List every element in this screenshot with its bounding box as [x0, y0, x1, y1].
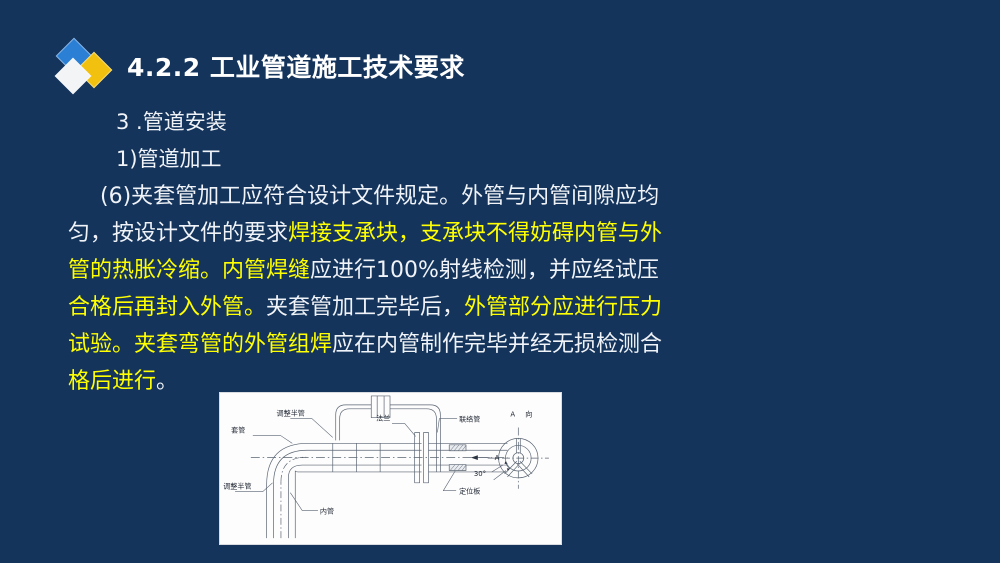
highlighted-text-run: 试验。夹套弯管的外管组焊	[68, 332, 332, 357]
figure-label-adjust-half-pipe-top: 调整半管	[277, 409, 305, 418]
slide-title-row: 4.2.2 工业管道施工技术要求	[55, 38, 465, 94]
highlighted-text-run: 外管部分应进行压力	[464, 295, 662, 320]
jacketed-pipe-figure: 调整半管 套管 法兰 联络管 定位板 调整半管 内管 A A 向 30°	[219, 392, 562, 545]
jacketed-pipe-svg: 调整半管 套管 法兰 联络管 定位板 调整半管 内管 A A 向 30°	[220, 393, 561, 544]
figure-label-inner-pipe: 内管	[320, 506, 334, 515]
body-paragraph: (6)夹套管加工应符合设计文件规定。外管与内管间隙应均匀，按设计文件的要求焊接支…	[38, 178, 738, 400]
highlighted-text-run: 格后进行	[68, 369, 156, 394]
figure-label-positioning-plate: 定位板	[459, 487, 480, 496]
figure-label-angle: 30°	[474, 470, 486, 478]
plain-text-run: 应进行100%射线检测，并应经试压	[310, 258, 659, 283]
figure-label-view-word: 向	[525, 410, 532, 419]
plain-text-run: 应在内管制作完毕并经无损检测合	[332, 332, 662, 357]
body-heading-2: 1)管道加工	[38, 141, 738, 178]
slide-canvas: 4.2.2 工业管道施工技术要求 3 .管道安装 1)管道加工 (6)夹套管加工…	[0, 0, 1000, 563]
three-diamond-logo-icon	[55, 38, 117, 94]
figure-label-connecting-pipe: 联络管	[459, 415, 480, 424]
figure-label-adjust-half-pipe-bottom: 调整半管	[223, 482, 251, 491]
body-paragraph-line: 管的热胀冷缩。内管焊缝应进行100%射线检测，并应经试压	[38, 252, 738, 289]
body-paragraph-line: 试验。夹套弯管的外管组焊应在内管制作完毕并经无损检测合	[38, 326, 738, 363]
plain-text-run: (6)夹套管加工应符合设计文件规定。外管与内管间隙应均	[100, 184, 659, 209]
body-paragraph-line: (6)夹套管加工应符合设计文件规定。外管与内管间隙应均	[38, 178, 738, 215]
figure-label-view-letter: A	[510, 411, 515, 419]
highlighted-text-run: 管的热胀冷缩。内管焊缝	[68, 258, 310, 283]
plain-text-run: 匀，按设计文件的要求	[68, 221, 288, 246]
figure-label-flange: 法兰	[376, 414, 390, 423]
plain-text-run: 。	[156, 369, 178, 394]
figure-label-sleeve: 套管	[231, 425, 245, 434]
body-paragraph-line: 匀，按设计文件的要求焊接支承块，支承块不得妨碍内管与外	[38, 215, 738, 252]
body-paragraph-line: 合格后再封入外管。夹套管加工完毕后，外管部分应进行压力	[38, 289, 738, 326]
highlighted-text-run: 合格后再封入外管。	[68, 295, 266, 320]
figure-label-view-arrow: A	[495, 454, 500, 462]
body-heading-1: 3 .管道安装	[38, 104, 738, 141]
highlighted-text-run: 焊接支承块，支承块不得妨碍内管与外	[288, 221, 662, 246]
plain-text-run: 夹套管加工完毕后，	[266, 295, 464, 320]
page-title: 4.2.2 工业管道施工技术要求	[127, 48, 465, 84]
body-text-block: 3 .管道安装 1)管道加工 (6)夹套管加工应符合设计文件规定。外管与内管间隙…	[38, 104, 738, 400]
